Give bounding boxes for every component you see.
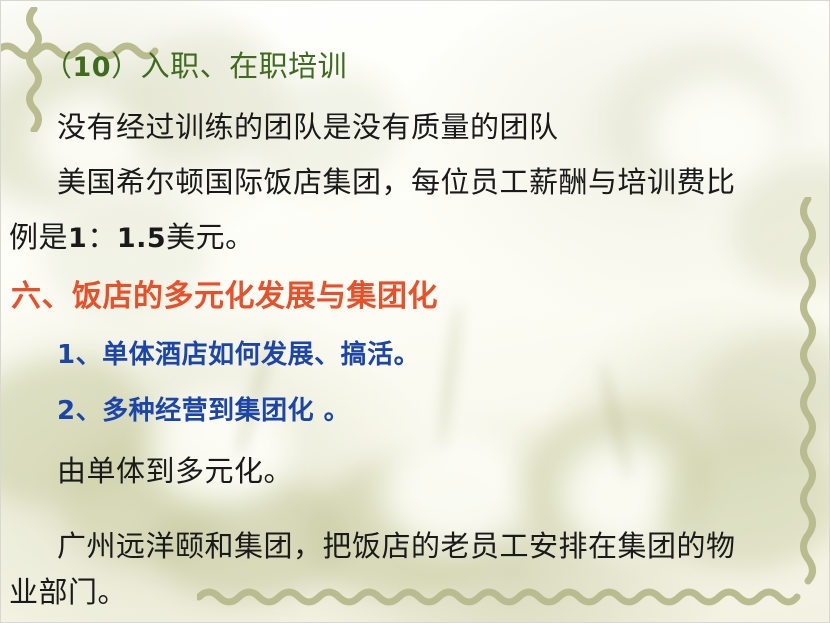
body-line-ratio: 例是1：1.5美元。 (9, 214, 255, 256)
bullet-item-2: 2、多种经营到集团化 。 (57, 390, 350, 427)
body-line-guangzhou-part2: 业部门。 (9, 569, 127, 611)
subheading-paren-close: ） (111, 49, 141, 83)
section-heading-six: 六、饭店的多元化发展与集团化 (11, 271, 438, 315)
presentation-slide: （10）入职、在职培训 没有经过训练的团队是没有质量的团队 美国希尔顿国际饭店集… (0, 0, 830, 623)
subheading-paren-open: （ (43, 49, 73, 83)
ratio-number-two: 1.5 (117, 223, 166, 254)
subheading-number: 10 (73, 52, 112, 83)
ratio-separator: ： (87, 220, 117, 254)
ratio-number-one: 1 (68, 223, 87, 254)
ratio-prefix: 例是 (9, 220, 68, 254)
body-line-guangzhou-part1: 广州远洋颐和集团，把饭店的老员工安排在集团的物 (57, 523, 736, 565)
subheading-10: （10）入职、在职培训 (43, 43, 347, 85)
bullet-item-1: 1、单体酒店如何发展、搞活。 (57, 334, 420, 371)
subheading-label: 入职、在职培训 (141, 49, 348, 83)
body-line-hilton: 美国希尔顿国际饭店集团，每位员工薪酬与培训费比 (57, 159, 736, 201)
body-line-quote: 没有经过训练的团队是没有质量的团队 (57, 104, 559, 146)
ratio-suffix: 美元。 (166, 220, 255, 254)
body-line-diversify: 由单体到多元化。 (57, 448, 293, 490)
